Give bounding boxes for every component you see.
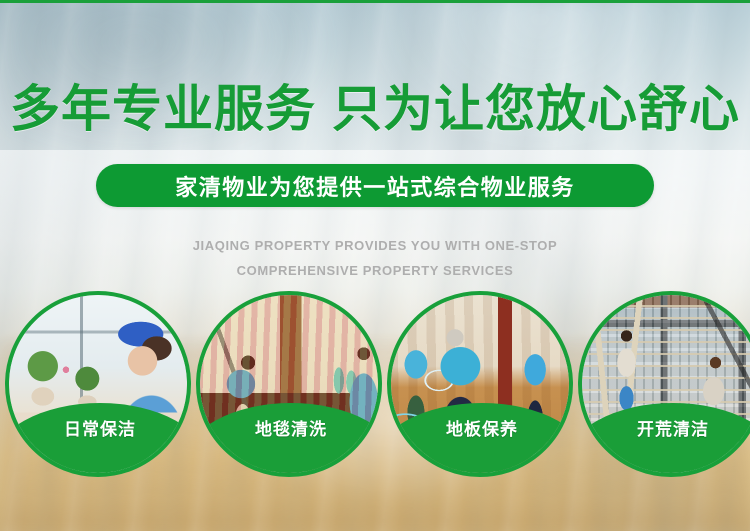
service-circle-daily-cleaning[interactable]: 日常保洁 — [5, 291, 191, 477]
service-circle-floor-maintenance[interactable]: 地板保养 — [387, 291, 573, 477]
headline-part-1: 多年专业服务 — [10, 81, 316, 137]
service-circle-row: 日常保洁 地毯清洗 地板保养 开荒清洁 — [0, 291, 750, 491]
service-circle-rough-cleaning[interactable]: 开荒清洁 — [578, 291, 750, 477]
english-subtitle: JIAQING PROPERTY PROVIDES YOU WITH ONE-S… — [0, 233, 750, 284]
promotional-banner: 多年专业服务只为让您放心舒心 家清物业为您提供一站式综合物业服务 JIAQING… — [0, 0, 750, 531]
english-subtitle-line-1: JIAQING PROPERTY PROVIDES YOU WITH ONE-S… — [0, 233, 750, 258]
english-subtitle-line-2: COMPREHENSIVE PROPERTY SERVICES — [0, 258, 750, 283]
service-label-daily-cleaning: 日常保洁 — [64, 415, 136, 440]
service-label-floor-maintenance: 地板保养 — [446, 415, 518, 440]
service-circle-carpet-washing[interactable]: 地毯清洗 — [196, 291, 382, 477]
service-label-carpet-washing: 地毯清洗 — [255, 415, 327, 440]
subheadline-pill-text: 家清物业为您提供一站式综合物业服务 — [175, 170, 575, 202]
subheadline-pill: 家清物业为您提供一站式综合物业服务 — [96, 164, 654, 207]
headline: 多年专业服务只为让您放心舒心 — [0, 84, 750, 134]
top-accent-rule — [0, 0, 750, 3]
headline-part-2: 只为让您放心舒心 — [332, 81, 740, 137]
service-label-rough-cleaning: 开荒清洁 — [637, 415, 709, 440]
